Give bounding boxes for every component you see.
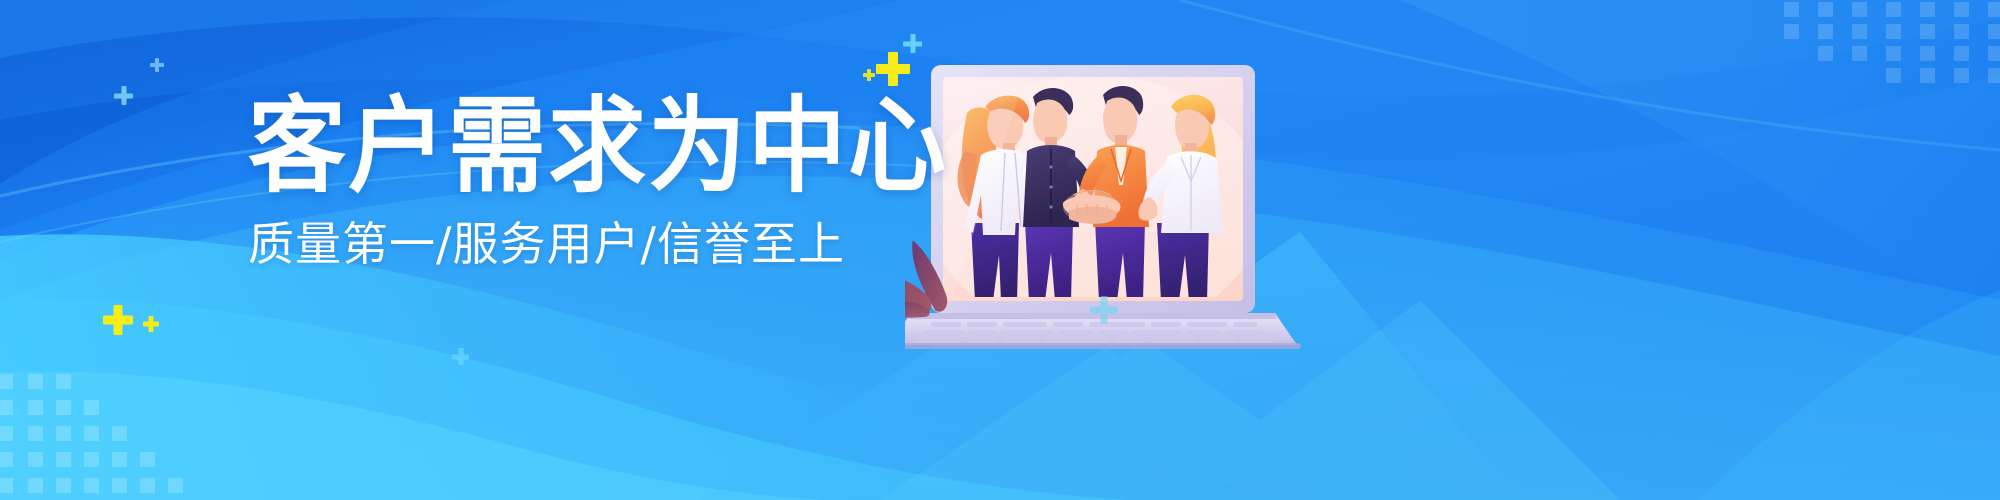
plus-yellow-bottom-small-icon <box>143 316 159 332</box>
banner-subtitle: 质量第一/服务用户/信誉至上 <box>248 219 868 270</box>
plus-yellow-bottom-icon <box>103 305 133 335</box>
plus-cyan-small-top-icon <box>903 34 922 53</box>
plus-cyan-left-upper-icon <box>114 86 133 105</box>
banner-headline: 客户需求为中心 <box>248 95 868 199</box>
plus-cyan-bottom-mid-icon <box>452 348 469 365</box>
plus-cyan-left-top-icon <box>150 58 164 72</box>
banner-text-block: 客户需求为中心 质量第一/服务用户/信誉至上 <box>248 95 868 270</box>
plus-cyan-center-icon <box>1090 296 1118 324</box>
promotional-banner: 客户需求为中心 质量第一/服务用户/信誉至上 <box>0 0 2000 500</box>
plus-yellow-large-icon <box>876 52 910 86</box>
plus-cyan-bottom-far-icon <box>863 69 875 81</box>
